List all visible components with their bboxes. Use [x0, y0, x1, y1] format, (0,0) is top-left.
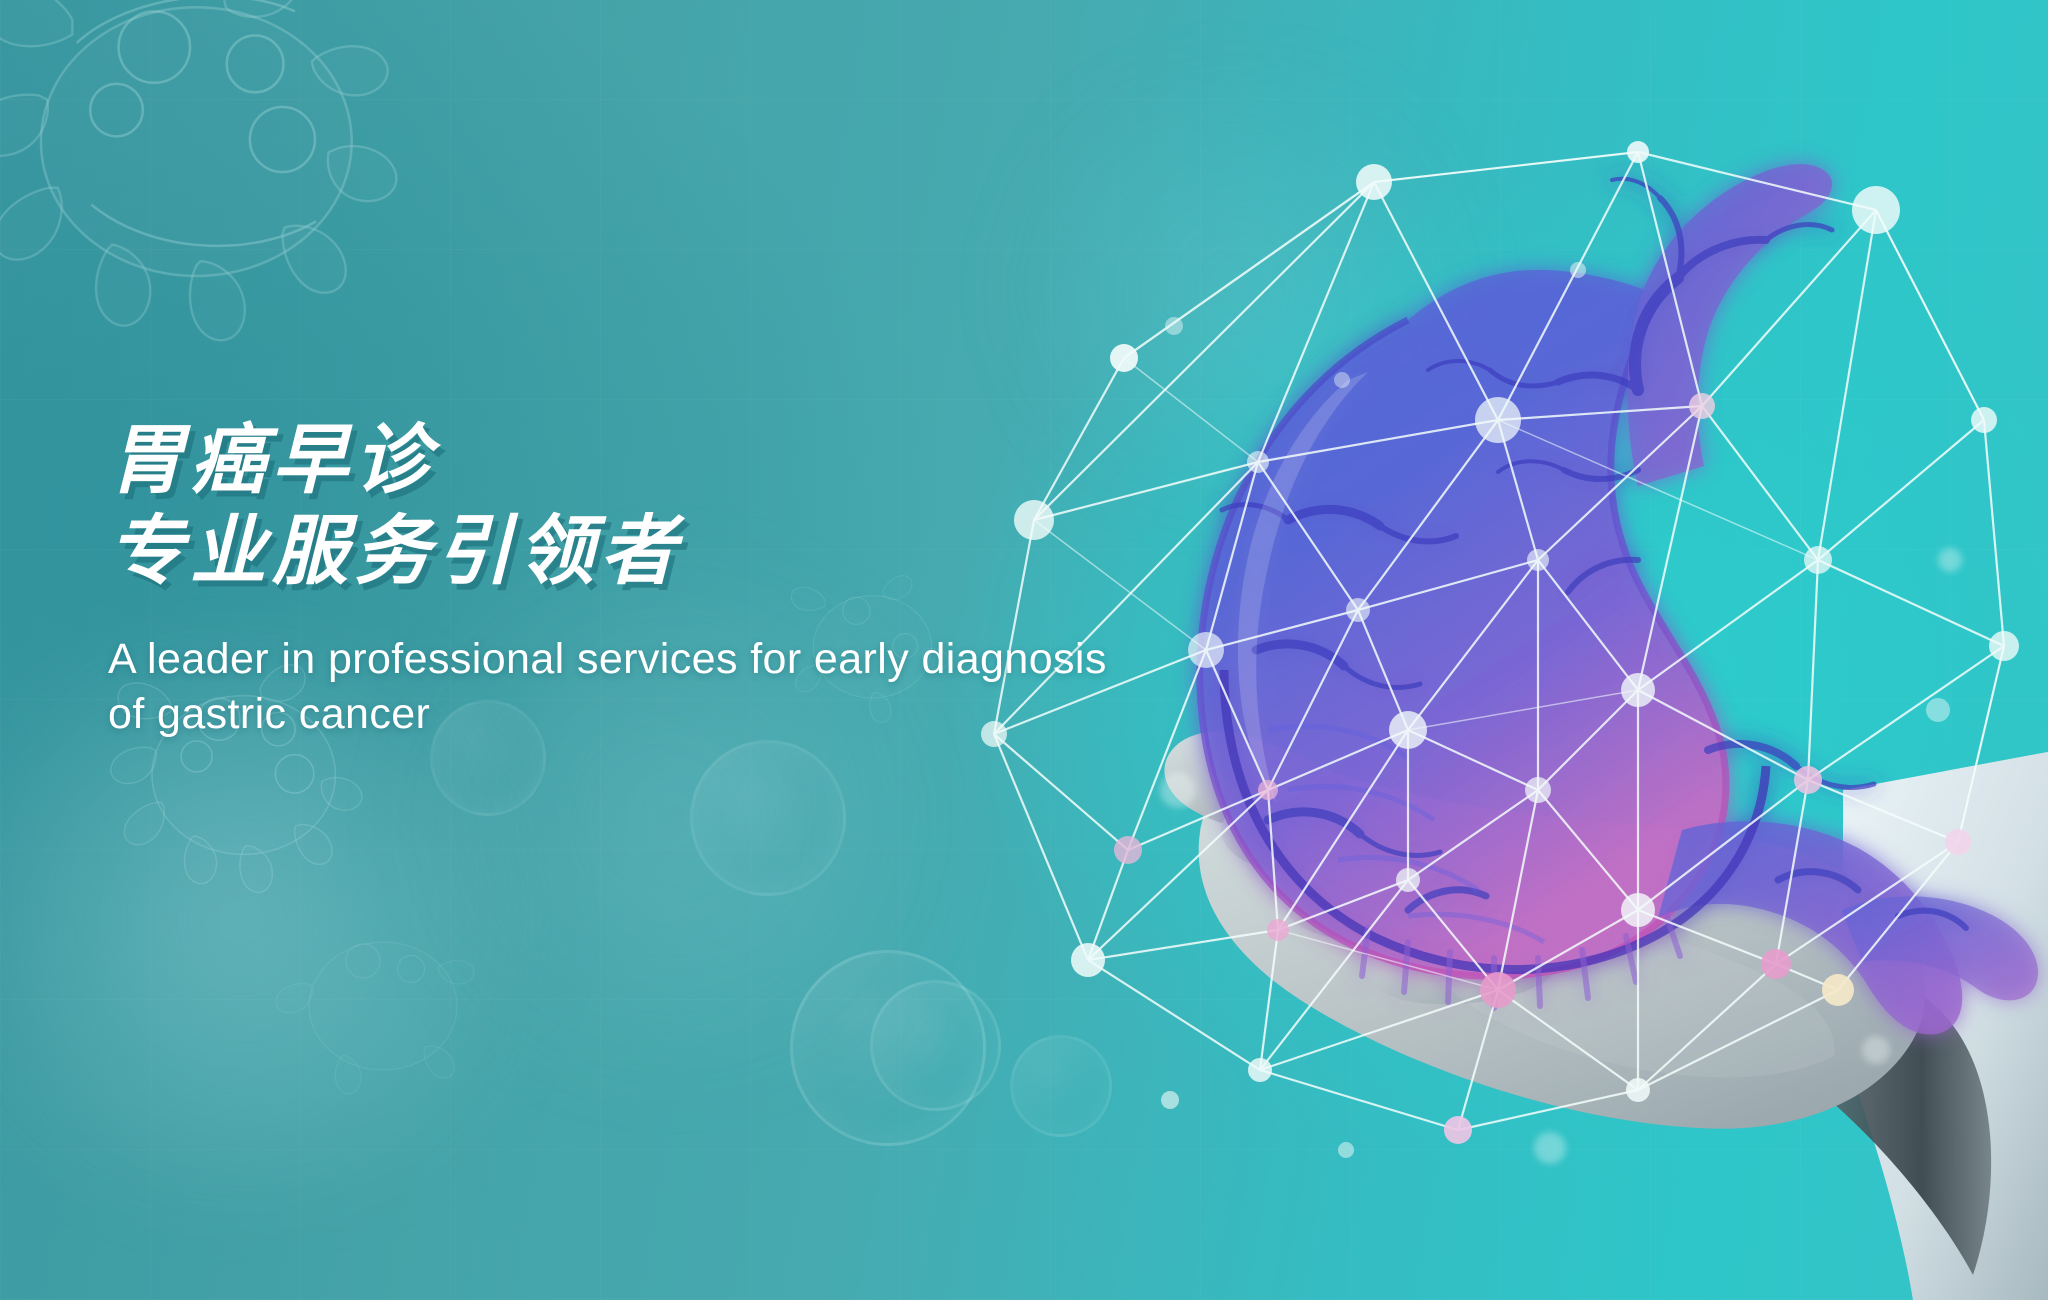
virus-cell-watermark-icon [265, 900, 495, 1120]
stomach-organ-icon [1200, 164, 2038, 1034]
headline-line-1: 胃癌早诊 [108, 418, 1168, 503]
page-title: 胃癌早诊 专业服务引领者 [108, 418, 1168, 594]
hero-copy: 胃癌早诊 专业服务引领者 A leader in professional se… [108, 418, 1168, 742]
headline-line-2: 专业服务引领者 [108, 509, 1168, 594]
bubble-shape [690, 740, 846, 896]
virus-cell-watermark-icon [0, 0, 432, 381]
hero-banner: 胃癌早诊 专业服务引领者 A leader in professional se… [0, 0, 2048, 1300]
subtitle-text: A leader in professional services for ea… [108, 632, 1118, 742]
